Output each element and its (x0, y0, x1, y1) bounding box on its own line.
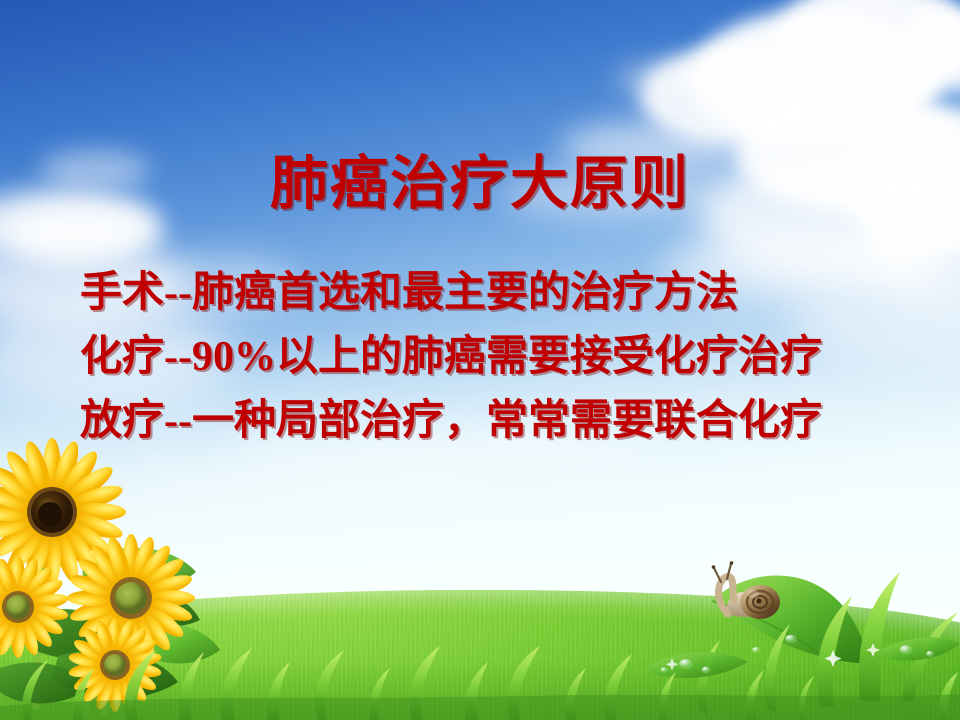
cloud-icon (615, 62, 735, 96)
page-title: 肺癌治疗大原则 (0, 152, 960, 216)
body-text-block: 手术--肺癌首选和最主要的治疗方法 化疗--90%以上的肺癌需要接受化疗治疗 放… (80, 262, 940, 453)
body-line-radiation: 放疗--一种局部治疗，常常需要联合化疗 (80, 390, 940, 454)
slide-canvas: 肺癌治疗大原则 手术--肺癌首选和最主要的治疗方法 化疗--90%以上的肺癌需要… (0, 0, 960, 720)
body-line-chemo: 化疗--90%以上的肺癌需要接受化疗治疗 (80, 326, 940, 390)
grass-shadow (0, 660, 960, 720)
body-line-surgery: 手术--肺癌首选和最主要的治疗方法 (80, 262, 940, 326)
